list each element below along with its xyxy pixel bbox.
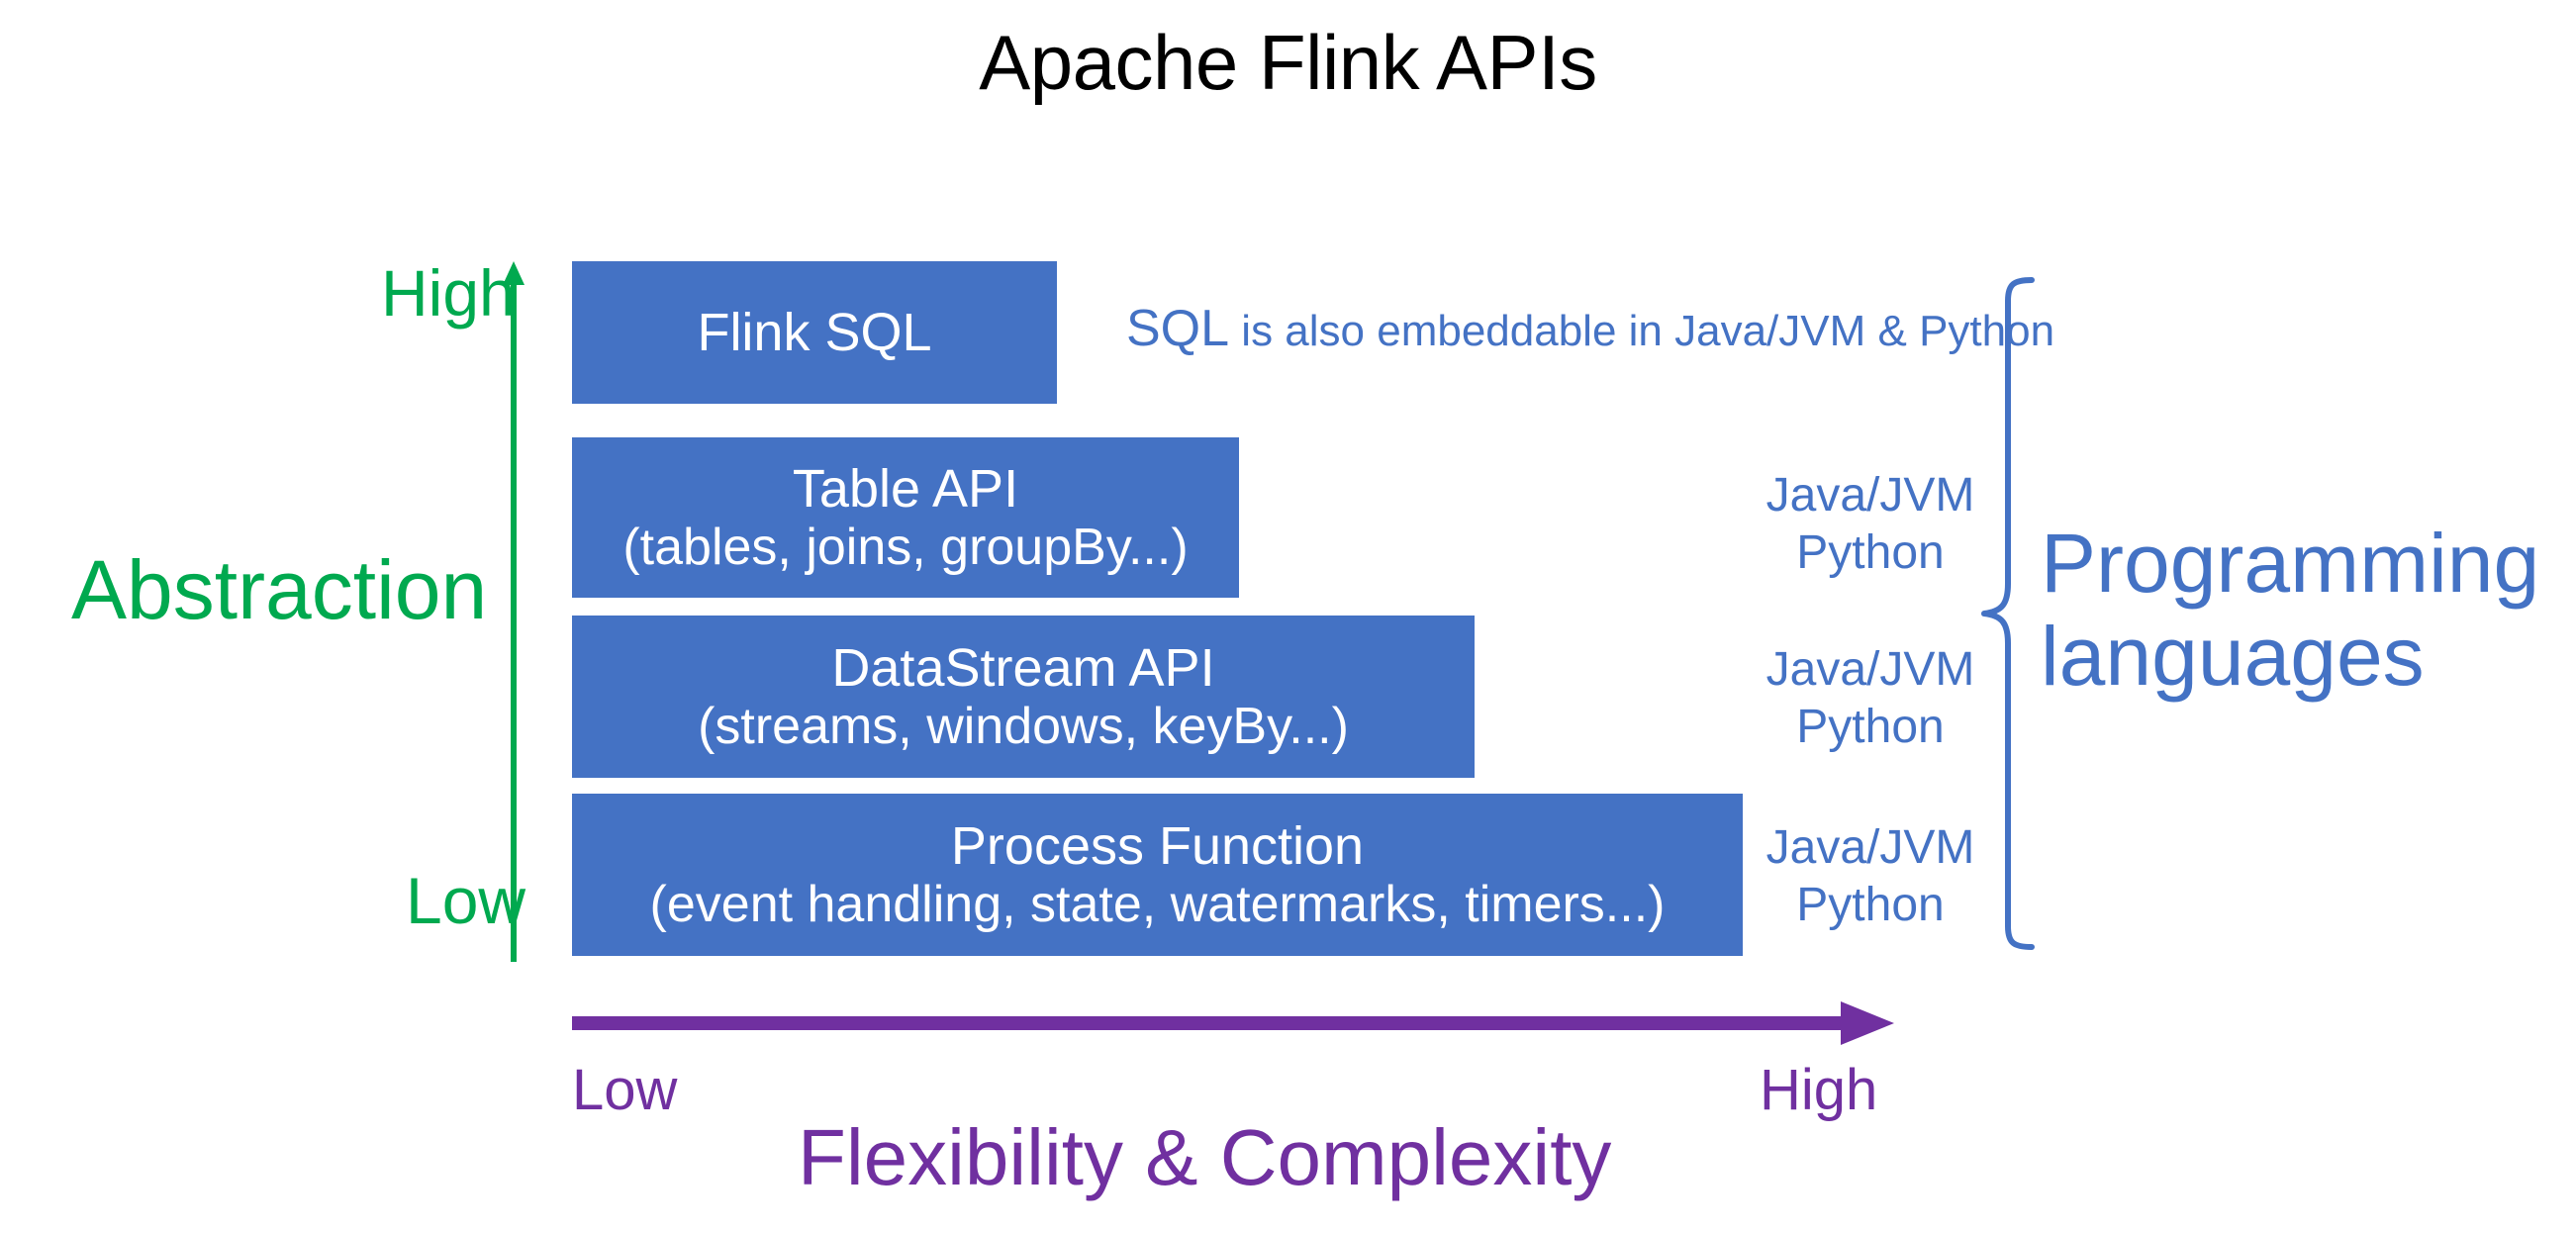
layer-title: DataStream API (831, 638, 1214, 698)
languages-datastream-api: Java/JVM Python (1742, 641, 1999, 755)
slide-canvas: Apache Flink APIs High Low Abstraction F… (0, 0, 2576, 1233)
flexibility-axis-arrow (572, 997, 1898, 1049)
flexibility-low-label: Low (572, 1057, 677, 1123)
programming-languages-label: Programming languages (2041, 517, 2539, 703)
layer-bar-process-function[interactable]: Process Function (event handling, state,… (572, 794, 1743, 956)
programming-languages-line2: languages (2041, 610, 2539, 703)
language-line: Python (1742, 877, 1999, 934)
abstraction-axis-label: Abstraction (71, 542, 487, 638)
layer-title: Flink SQL (697, 303, 931, 362)
abstraction-low-label: Low (406, 863, 525, 938)
sql-embeddable-note: SQL is also embeddable in Java/JVM & Pyt… (1126, 299, 2054, 358)
languages-table-api: Java/JVM Python (1742, 467, 1999, 581)
layer-subtitle: (event handling, state, watermarks, time… (650, 876, 1666, 933)
layer-title: Table API (793, 459, 1018, 519)
abstraction-high-label: High (381, 255, 516, 331)
language-line: Java/JVM (1742, 467, 1999, 524)
layer-bar-table-api[interactable]: Table API (tables, joins, groupBy...) (572, 437, 1239, 598)
page-title: Apache Flink APIs (0, 18, 2576, 108)
flexibility-high-label: High (1760, 1057, 1877, 1123)
abstraction-axis-arrow (503, 259, 525, 962)
language-line: Java/JVM (1742, 641, 1999, 699)
language-line: Java/JVM (1742, 819, 1999, 877)
sql-note-emphasis: SQL (1126, 300, 1229, 357)
layer-bar-flink-sql[interactable]: Flink SQL (572, 261, 1057, 404)
languages-process-function: Java/JVM Python (1742, 819, 1999, 933)
language-line: Python (1742, 699, 1999, 756)
programming-languages-line1: Programming (2041, 517, 2539, 610)
sql-note-rest: is also embeddable in Java/JVM & Python (1229, 307, 2054, 355)
layer-subtitle: (streams, windows, keyBy...) (698, 698, 1349, 755)
flexibility-axis-label: Flexibility & Complexity (798, 1112, 1611, 1203)
layer-subtitle: (tables, joins, groupBy...) (622, 519, 1188, 576)
layer-bar-datastream-api[interactable]: DataStream API (streams, windows, keyBy.… (572, 616, 1475, 778)
layer-title: Process Function (951, 816, 1364, 876)
language-line: Python (1742, 524, 1999, 582)
